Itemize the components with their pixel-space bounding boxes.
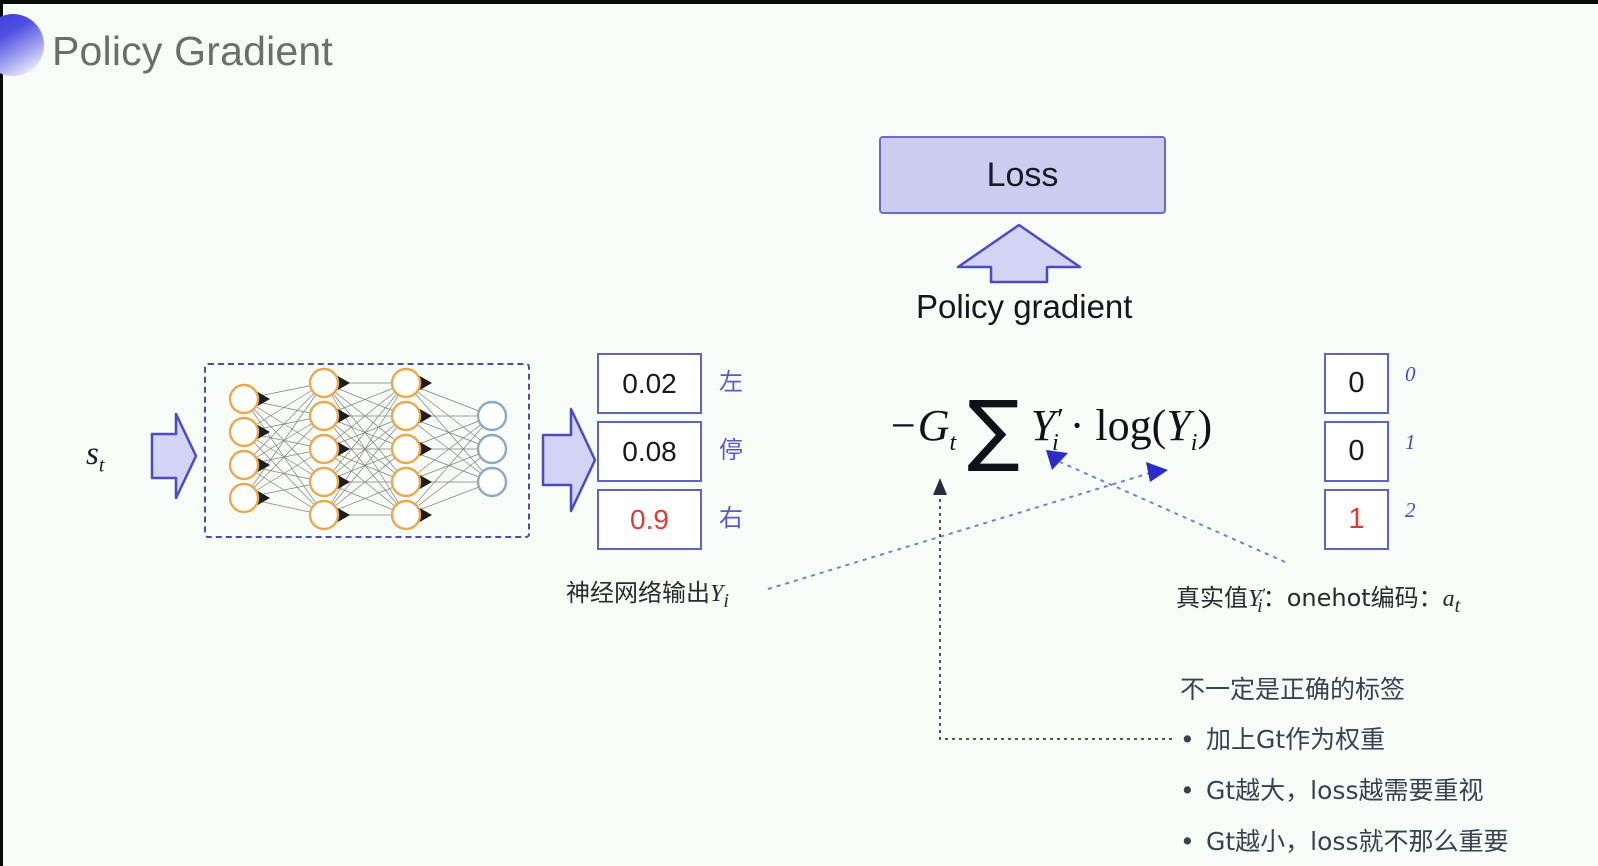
formula-log-close: ) — [1198, 401, 1213, 450]
page-title: Policy Gradient — [52, 28, 333, 75]
slide-canvas: Policy Gradient st — [0, 0, 1598, 866]
probability-label-right: 右 — [719, 498, 743, 533]
connector-gt-weight — [940, 493, 1172, 739]
policy-gradient-block-arrow-up-icon — [955, 222, 1083, 284]
note-bullet-1: •Gt越大，loss越需要重视 — [1180, 771, 1483, 807]
state-symbol: s — [86, 436, 99, 472]
onehot-box-0: 0 — [1324, 353, 1389, 414]
formula-sigma: ∑ — [967, 385, 1020, 475]
input-block-arrow-right-icon — [150, 410, 198, 502]
output-block-arrow-right-icon — [541, 405, 597, 515]
bullet-marker-icon: • — [1180, 776, 1206, 805]
left-border-bar — [0, 0, 3, 866]
formula-ytrue-subscript: i — [1052, 429, 1059, 456]
onehot-index-0: 0 — [1405, 362, 1416, 387]
onehot-caption-action-subscript: t — [1455, 595, 1461, 617]
formula-return-subscript: t — [949, 429, 956, 456]
onehot-caption-middle: ：onehot编码： — [1263, 584, 1443, 612]
onehot-box-2: 1 — [1324, 489, 1389, 550]
note-bullet-0: •加上Gt作为权重 — [1180, 720, 1385, 756]
bullet-marker-icon: • — [1180, 827, 1206, 856]
formula-ypred-subscript: i — [1191, 429, 1198, 456]
note-bullet-text-2: Gt越小，loss就不那么重要 — [1206, 827, 1508, 856]
connector-truth-to-formula — [1060, 462, 1285, 562]
onehot-index-1: 1 — [1405, 430, 1416, 455]
probability-box-1: 0.08 — [597, 421, 702, 482]
policy-gradient-label: Policy gradient — [916, 288, 1132, 326]
formula-return-symbol: G — [918, 401, 950, 450]
bullet-marker-icon: • — [1180, 725, 1206, 754]
connector-pred-to-formula — [768, 473, 1150, 589]
loss-box: Loss — [879, 136, 1166, 214]
probability-caption: 神经网络输出Yi — [566, 573, 729, 613]
formula-dot: · — [1070, 401, 1085, 450]
nn-nodes-output — [478, 402, 506, 496]
state-symbol-label: st — [86, 436, 104, 478]
note-bullet-text-1: Gt越大，loss越需要重视 — [1206, 776, 1483, 805]
top-border-bar — [0, 0, 1598, 4]
formula-ypred-symbol: Y — [1166, 401, 1190, 450]
onehot-caption-prefix: 真实值 — [1176, 584, 1248, 612]
title-bullet-icon — [0, 14, 44, 76]
probability-caption-text: 神经网络输出 — [566, 579, 710, 607]
probability-label-stop: 停 — [719, 430, 743, 465]
onehot-caption: 真实值Y′i：onehot编码：at — [1176, 578, 1460, 618]
notes-heading: 不一定是正确的标签 — [1180, 670, 1405, 706]
nn-edges — [244, 383, 492, 515]
note-bullet-text-0: 加上Gt作为权重 — [1206, 725, 1385, 754]
onehot-caption-action: a — [1443, 586, 1455, 612]
probability-box-0: 0.02 — [597, 353, 702, 414]
probability-caption-symbol: Y — [710, 581, 723, 607]
connector-gt-arrowhead — [933, 478, 947, 495]
neural-network-diagram — [204, 363, 526, 534]
loss-formula: −Gt ∑ Y′i · log(Yi) — [888, 385, 1212, 475]
probability-label-left: 左 — [719, 362, 743, 397]
formula-minus: − — [888, 401, 918, 450]
onehot-box-1: 0 — [1324, 421, 1389, 482]
note-bullet-2: •Gt越小，loss就不那么重要 — [1180, 822, 1508, 858]
onehot-index-2: 2 — [1405, 498, 1416, 523]
probability-caption-subscript: i — [723, 590, 729, 612]
state-subscript: t — [99, 455, 105, 477]
formula-log-open: log( — [1095, 401, 1166, 450]
probability-box-2: 0.9 — [597, 489, 702, 550]
